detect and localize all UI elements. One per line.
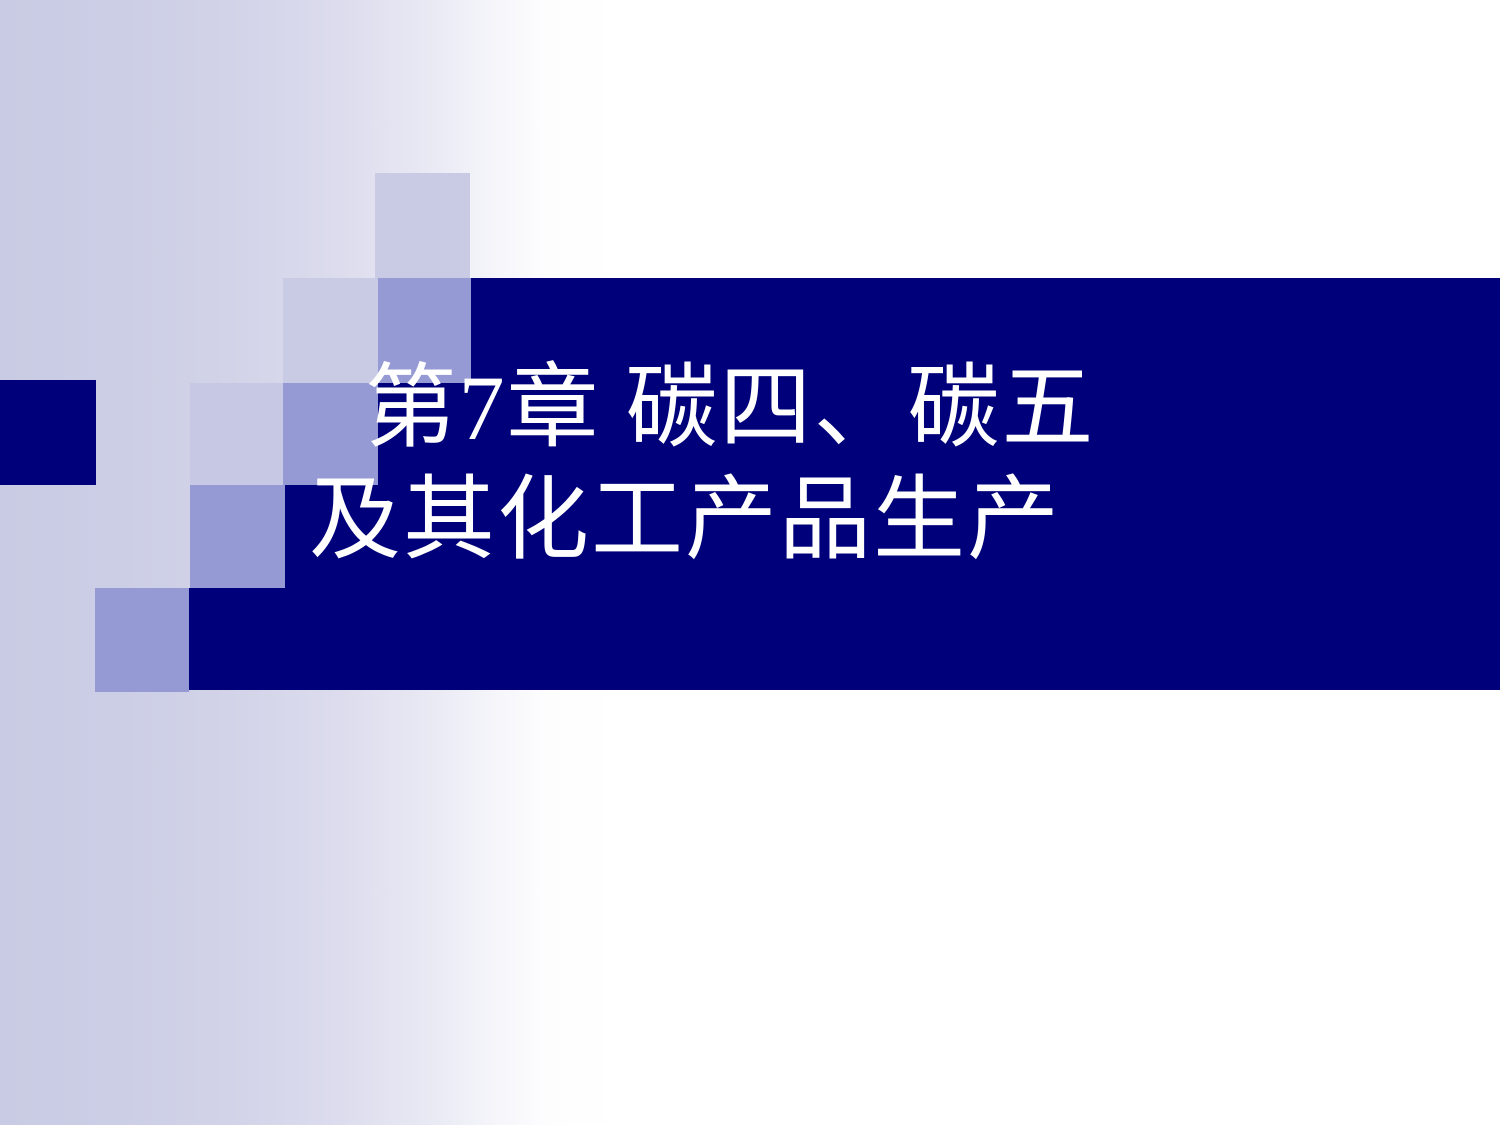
slide-title-line-2: 及其化工产品生产 [0,464,1460,576]
slide-title: 第7章 碳四、碳五 及其化工产品生产 [0,352,1460,576]
slide-title-line-1: 第7章 碳四、碳五 [0,352,1460,464]
presentation-slide: 第7章 碳四、碳五 及其化工产品生产 [0,0,1500,1125]
navy-title-band-lower [188,588,1500,690]
decor-square-light-top [375,173,470,278]
decor-square-dark-bottom [95,588,189,692]
